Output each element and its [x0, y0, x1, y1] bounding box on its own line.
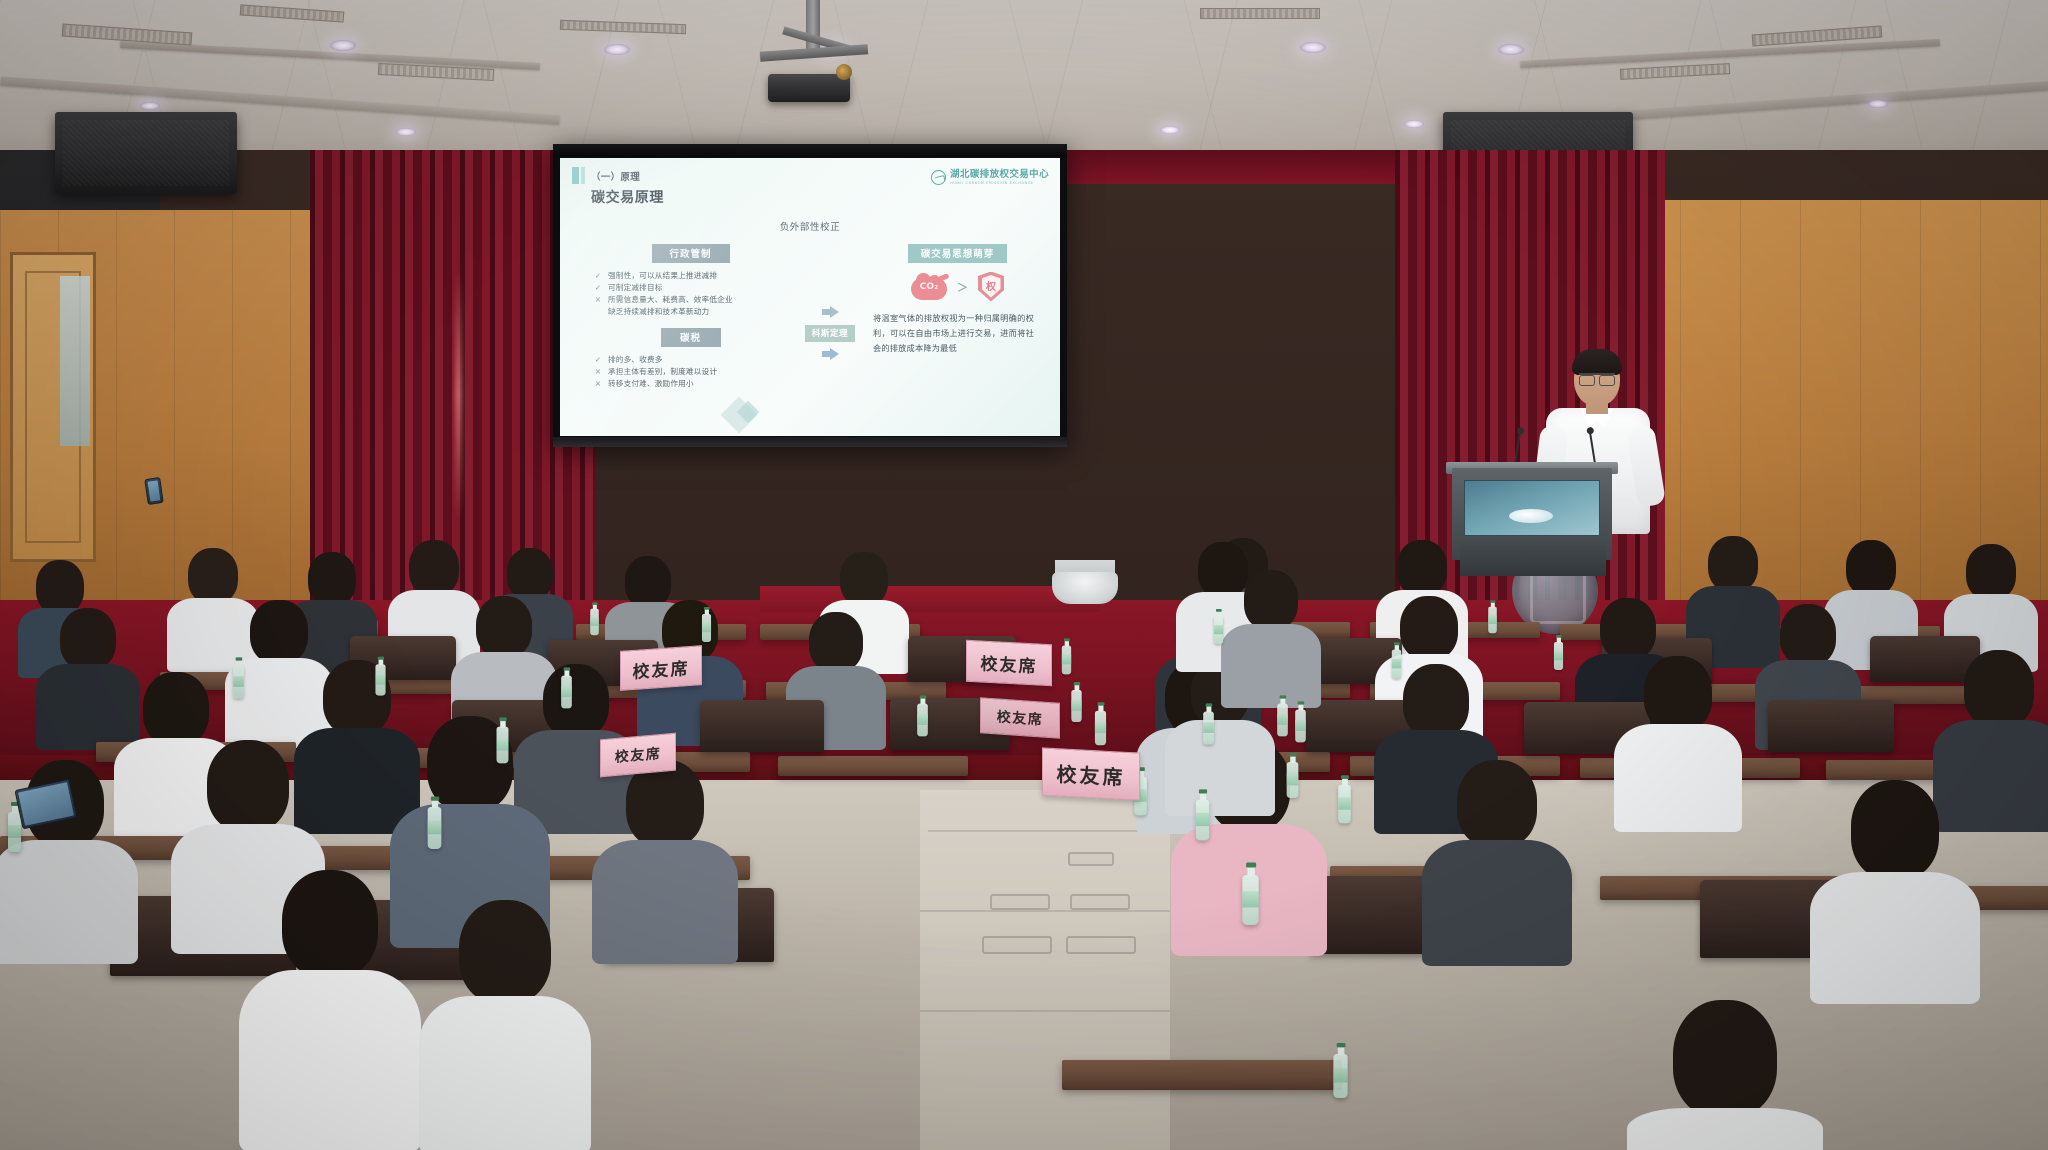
- alumni-seat-sign: 校友席: [980, 697, 1060, 739]
- door-window: [60, 276, 90, 446]
- bullet-mark: ×: [594, 294, 602, 317]
- co2-cloud-icon: CO₂: [911, 273, 947, 300]
- ceiling-downlight: [1160, 126, 1180, 134]
- alumni-seat-sign-text: 校友席: [615, 743, 662, 767]
- lectern-front-panel: [1464, 480, 1600, 536]
- middle-column: 科斯定理: [787, 242, 873, 391]
- center-aisle: [920, 790, 1170, 1150]
- co2-label: CO₂: [911, 282, 947, 292]
- audience-chair: [1768, 700, 1894, 752]
- ceiling-downlight: [1868, 100, 1888, 108]
- concept-icons: CO₂ ＞ 权: [873, 272, 1042, 302]
- slide-columns: 行政管制 ✓ 强制性，可以从结果上推进减排 ✓ 可制定减排目标: [572, 242, 1048, 391]
- right-heading: 碳交易思想萌芽: [908, 244, 1008, 263]
- audience-member: [430, 900, 580, 1150]
- alumni-seat-sign-text: 校友席: [633, 654, 690, 683]
- section-1-heading-row: 行政管制: [594, 242, 787, 263]
- bullet-mark: ×: [594, 366, 602, 377]
- arrow-right-icon: [822, 348, 839, 361]
- screen-surface: （一）原理 碳交易原理 湖北碳排放权交易中心 HUBEI CARBON EMIS…: [560, 158, 1060, 436]
- audience-member: [1430, 760, 1564, 960]
- rights-shield-icon: 权: [978, 272, 1004, 302]
- alumni-seat-sign-text: 校友席: [1057, 758, 1126, 791]
- ceiling-downlight: [1300, 42, 1326, 53]
- audience-member: [1820, 780, 1970, 1000]
- audience-member: [1620, 656, 1736, 828]
- slide-subtitle: 负外部性校正: [572, 219, 1048, 233]
- ceiling-projector: [768, 74, 850, 102]
- smartphone[interactable]: [144, 477, 163, 505]
- screen-bottom-bar: [553, 437, 1067, 447]
- logo-circle-icon: [931, 170, 946, 185]
- alumni-seat-sign-text: 校友席: [997, 706, 1044, 729]
- bullet-mark: ✓: [594, 282, 602, 293]
- bullet-item: ✓ 排的多、收费多: [594, 354, 787, 365]
- right-heading-row: 碳交易思想萌芽: [873, 242, 1042, 263]
- right-paragraph: 将温室气体的排放权视为一种归属明确的权利，可以在自由市场上进行交易，进而将社会的…: [873, 311, 1042, 357]
- bullet-item: × 所需信息量大、耗费高、效率低企业 缺乏持续减排和技术革新动力: [594, 294, 787, 317]
- audience-desk: [1062, 1060, 1342, 1090]
- ceiling-downlight: [396, 128, 416, 136]
- bullet-text: 承担主体有差别，制度难以设计: [608, 366, 787, 377]
- bullet-text: 强制性，可以从结果上推进减排: [608, 270, 787, 281]
- bullet-item: ✓ 强制性，可以从结果上推进减排: [594, 270, 787, 281]
- bullet-item: × 承担主体有差别，制度难以设计: [594, 366, 787, 377]
- left-column: 行政管制 ✓ 强制性，可以从结果上推进减排 ✓ 可制定减排目标: [572, 242, 787, 391]
- ceiling-downlight: [1498, 44, 1524, 55]
- audience-member: [600, 760, 730, 960]
- stage-step: [760, 586, 1100, 612]
- bullet-mark: ✓: [594, 270, 602, 281]
- alumni-seat-sign: 校友席: [600, 733, 676, 778]
- ceiling-downlight: [330, 40, 356, 51]
- logo-chinese-name: 湖北碳排放权交易中心: [950, 170, 1049, 180]
- alumni-seat-sign: 校友席: [1042, 747, 1140, 800]
- alumni-seat-sign-text: 校友席: [981, 649, 1038, 677]
- conference-hall-photo: （一）原理 碳交易原理 湖北碳排放权交易中心 HUBEI CARBON EMIS…: [0, 0, 2048, 1150]
- shield-label: 权: [978, 272, 1004, 302]
- bullet-item: ✓ 可制定减排目标: [594, 282, 787, 293]
- alumni-seat-sign: 校友席: [620, 645, 702, 691]
- presenter-glasses: [1579, 373, 1615, 382]
- ceiling-vent: [1200, 8, 1320, 19]
- bullet-text: 排的多、收费多: [608, 354, 787, 365]
- exchange-logo: 湖北碳排放权交易中心 HUBEI CARBON EMISSION EXCHANG…: [931, 170, 1049, 185]
- left-speaker: [55, 112, 237, 194]
- audience-member: [250, 870, 410, 1150]
- coase-theorem-box: 科斯定理: [805, 325, 855, 342]
- bullet-text: 转移支付难、激励作用小: [608, 378, 787, 389]
- bullet-mark: ×: [594, 378, 602, 389]
- bullet-item: × 转移支付难、激励作用小: [594, 378, 787, 389]
- section-1-bullets: ✓ 强制性，可以从结果上推进减排 ✓ 可制定减排目标 × 所需信息量大、耗费高、…: [594, 270, 787, 318]
- right-column: 碳交易思想萌芽 CO₂ ＞: [873, 242, 1048, 391]
- audience-member: [300, 660, 414, 828]
- eyebrow-bars-icon: [572, 167, 585, 184]
- screen-top-bar: [553, 144, 1067, 157]
- audience-member: [1225, 570, 1317, 702]
- projection-screen: （一）原理 碳交易原理 湖北碳排放权交易中心 HUBEI CARBON EMIS…: [553, 144, 1067, 446]
- section-2-heading-row: 碳税: [594, 326, 787, 347]
- ceiling-downlight: [604, 44, 630, 55]
- logo-english-name: HUBEI CARBON EMISSION EXCHANGE: [950, 181, 1049, 185]
- section-2-heading: 碳税: [661, 328, 721, 347]
- bullet-text-continued: 缺乏持续减排和技术革新动力: [608, 306, 787, 317]
- greater-than-icon: ＞: [957, 279, 968, 295]
- audience-desk: [778, 756, 968, 776]
- audience-member: [1640, 1000, 1810, 1150]
- bullet-mark: ✓: [594, 354, 602, 365]
- bullet-text: 可制定减排目标: [608, 282, 787, 293]
- arrow-right-icon: [822, 306, 839, 319]
- slide-title: 碳交易原理: [591, 187, 1048, 207]
- alumni-seat-sign: 校友席: [966, 640, 1052, 687]
- projector-lens: [836, 64, 852, 80]
- section-2-bullets: ✓ 排的多、收费多 × 承担主体有差别，制度难以设计 × 转移支付难、激励作用小: [594, 354, 787, 390]
- lectern-lower: [1460, 538, 1606, 576]
- ceiling-downlight: [1404, 120, 1424, 128]
- curtain-light-streak: [455, 270, 462, 520]
- slide-eyebrow-text: （一）原理: [591, 169, 640, 183]
- audience-chair: [700, 700, 824, 752]
- presentation-slide: （一）原理 碳交易原理 湖北碳排放权交易中心 HUBEI CARBON EMIS…: [560, 158, 1060, 436]
- bullet-text: 所需信息量大、耗费高、效率低企业: [608, 295, 733, 304]
- stage-vase: [1052, 572, 1118, 604]
- ceiling-downlight: [140, 102, 160, 110]
- section-1-heading: 行政管制: [652, 244, 730, 263]
